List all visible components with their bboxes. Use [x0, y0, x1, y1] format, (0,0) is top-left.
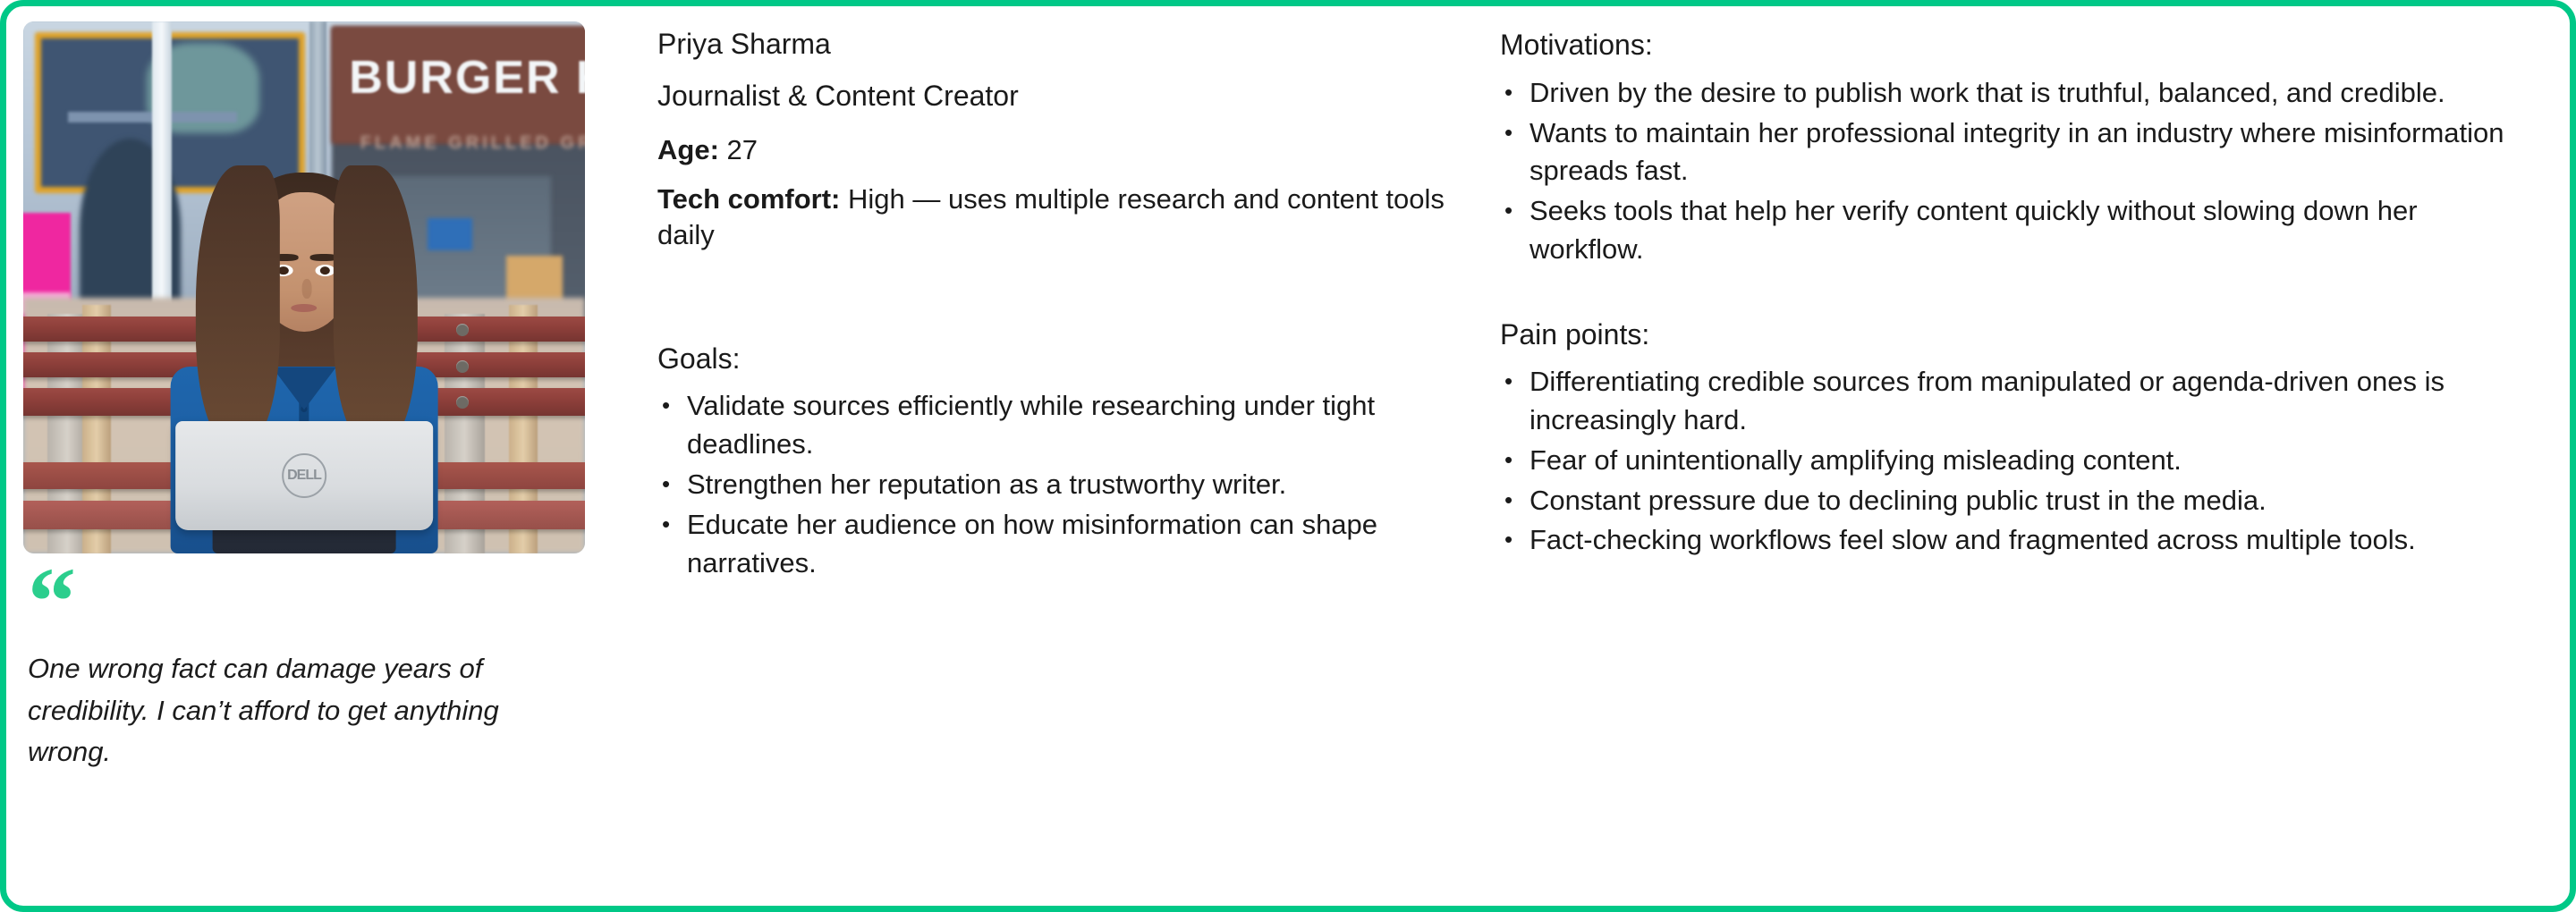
- list-item: Strengthen her reputation as a trustwort…: [657, 466, 1455, 504]
- person-pupil: [278, 266, 288, 275]
- person-mouth: [292, 304, 318, 312]
- quote-mark-icon: “: [28, 573, 632, 627]
- list-item: Validate sources efficiently while resea…: [657, 387, 1455, 464]
- goals-section: Goals: Validate sources efficiently whil…: [657, 342, 1455, 583]
- list-item: Wants to maintain her professional integ…: [1500, 114, 2534, 191]
- list-item: Fear of unintentionally amplifying misle…: [1500, 442, 2534, 480]
- persona-age-value: 27: [727, 134, 758, 165]
- pain-points-heading: Pain points:: [1500, 318, 2534, 351]
- middle-column: Priya Sharma Journalist & Content Creato…: [632, 6, 1491, 584]
- persona-photo: BURGER K FLAME GRILLED GRILL: [23, 21, 585, 553]
- pain-points-section: Pain points: Differentiating credible so…: [1500, 318, 2534, 561]
- bench-bolt: [456, 324, 469, 336]
- persona-name: Priya Sharma: [657, 29, 1455, 61]
- pain-points-list: Differentiating credible sources from ma…: [1500, 363, 2534, 560]
- persona-card: BURGER K FLAME GRILLED GRILL: [0, 0, 2576, 912]
- persona-role: Journalist & Content Creator: [657, 80, 1455, 113]
- goals-list: Validate sources efficiently while resea…: [657, 387, 1455, 582]
- persona-tech-comfort-label: Tech comfort:: [657, 183, 840, 215]
- motivations-list: Driven by the desire to publish work tha…: [1500, 74, 2534, 269]
- photo-scene: BURGER K FLAME GRILLED GRILL: [23, 21, 585, 553]
- person-nose: [302, 279, 312, 299]
- list-item: Differentiating credible sources from ma…: [1500, 363, 2534, 440]
- motivations-section: Motivations: Driven by the desire to pub…: [1500, 29, 2534, 269]
- person-pupil: [319, 266, 329, 275]
- dell-logo-icon: DELL: [282, 453, 326, 498]
- persona-age: Age: 27: [657, 132, 1455, 168]
- bench-bolt: [456, 360, 469, 373]
- right-column: Motivations: Driven by the desire to pub…: [1491, 6, 2570, 562]
- motivations-heading: Motivations:: [1500, 29, 2534, 62]
- bench-bolt: [456, 396, 469, 409]
- list-item: Fact-checking workflows feel slow and fr…: [1500, 521, 2534, 560]
- person-hair-strand: [334, 165, 418, 445]
- goals-heading: Goals:: [657, 342, 1455, 376]
- left-column: BURGER K FLAME GRILLED GRILL: [6, 6, 632, 773]
- laptop: DELL: [175, 421, 432, 530]
- photo-sign-subtext: FLAME GRILLED GRILL: [360, 133, 585, 154]
- list-item: Educate her audience on how misinformati…: [657, 506, 1455, 583]
- list-item: Driven by the desire to publish work tha…: [1500, 74, 2534, 113]
- person-eye: [315, 265, 335, 276]
- persona-age-label: Age:: [657, 134, 719, 165]
- list-item: Seeks tools that help her verify content…: [1500, 192, 2534, 269]
- person-hair-strand: [195, 165, 279, 445]
- list-item: Constant pressure due to declining publi…: [1500, 482, 2534, 520]
- quote-text: One wrong fact can damage years of credi…: [28, 648, 564, 773]
- photo-person: DELL: [181, 165, 428, 553]
- persona-quote: “ One wrong fact can damage years of cre…: [23, 573, 632, 773]
- persona-tech-comfort: Tech comfort: High — uses multiple resea…: [657, 182, 1455, 252]
- photo-sign-text: BURGER K: [349, 51, 585, 105]
- photo-window-highlight: [428, 218, 472, 250]
